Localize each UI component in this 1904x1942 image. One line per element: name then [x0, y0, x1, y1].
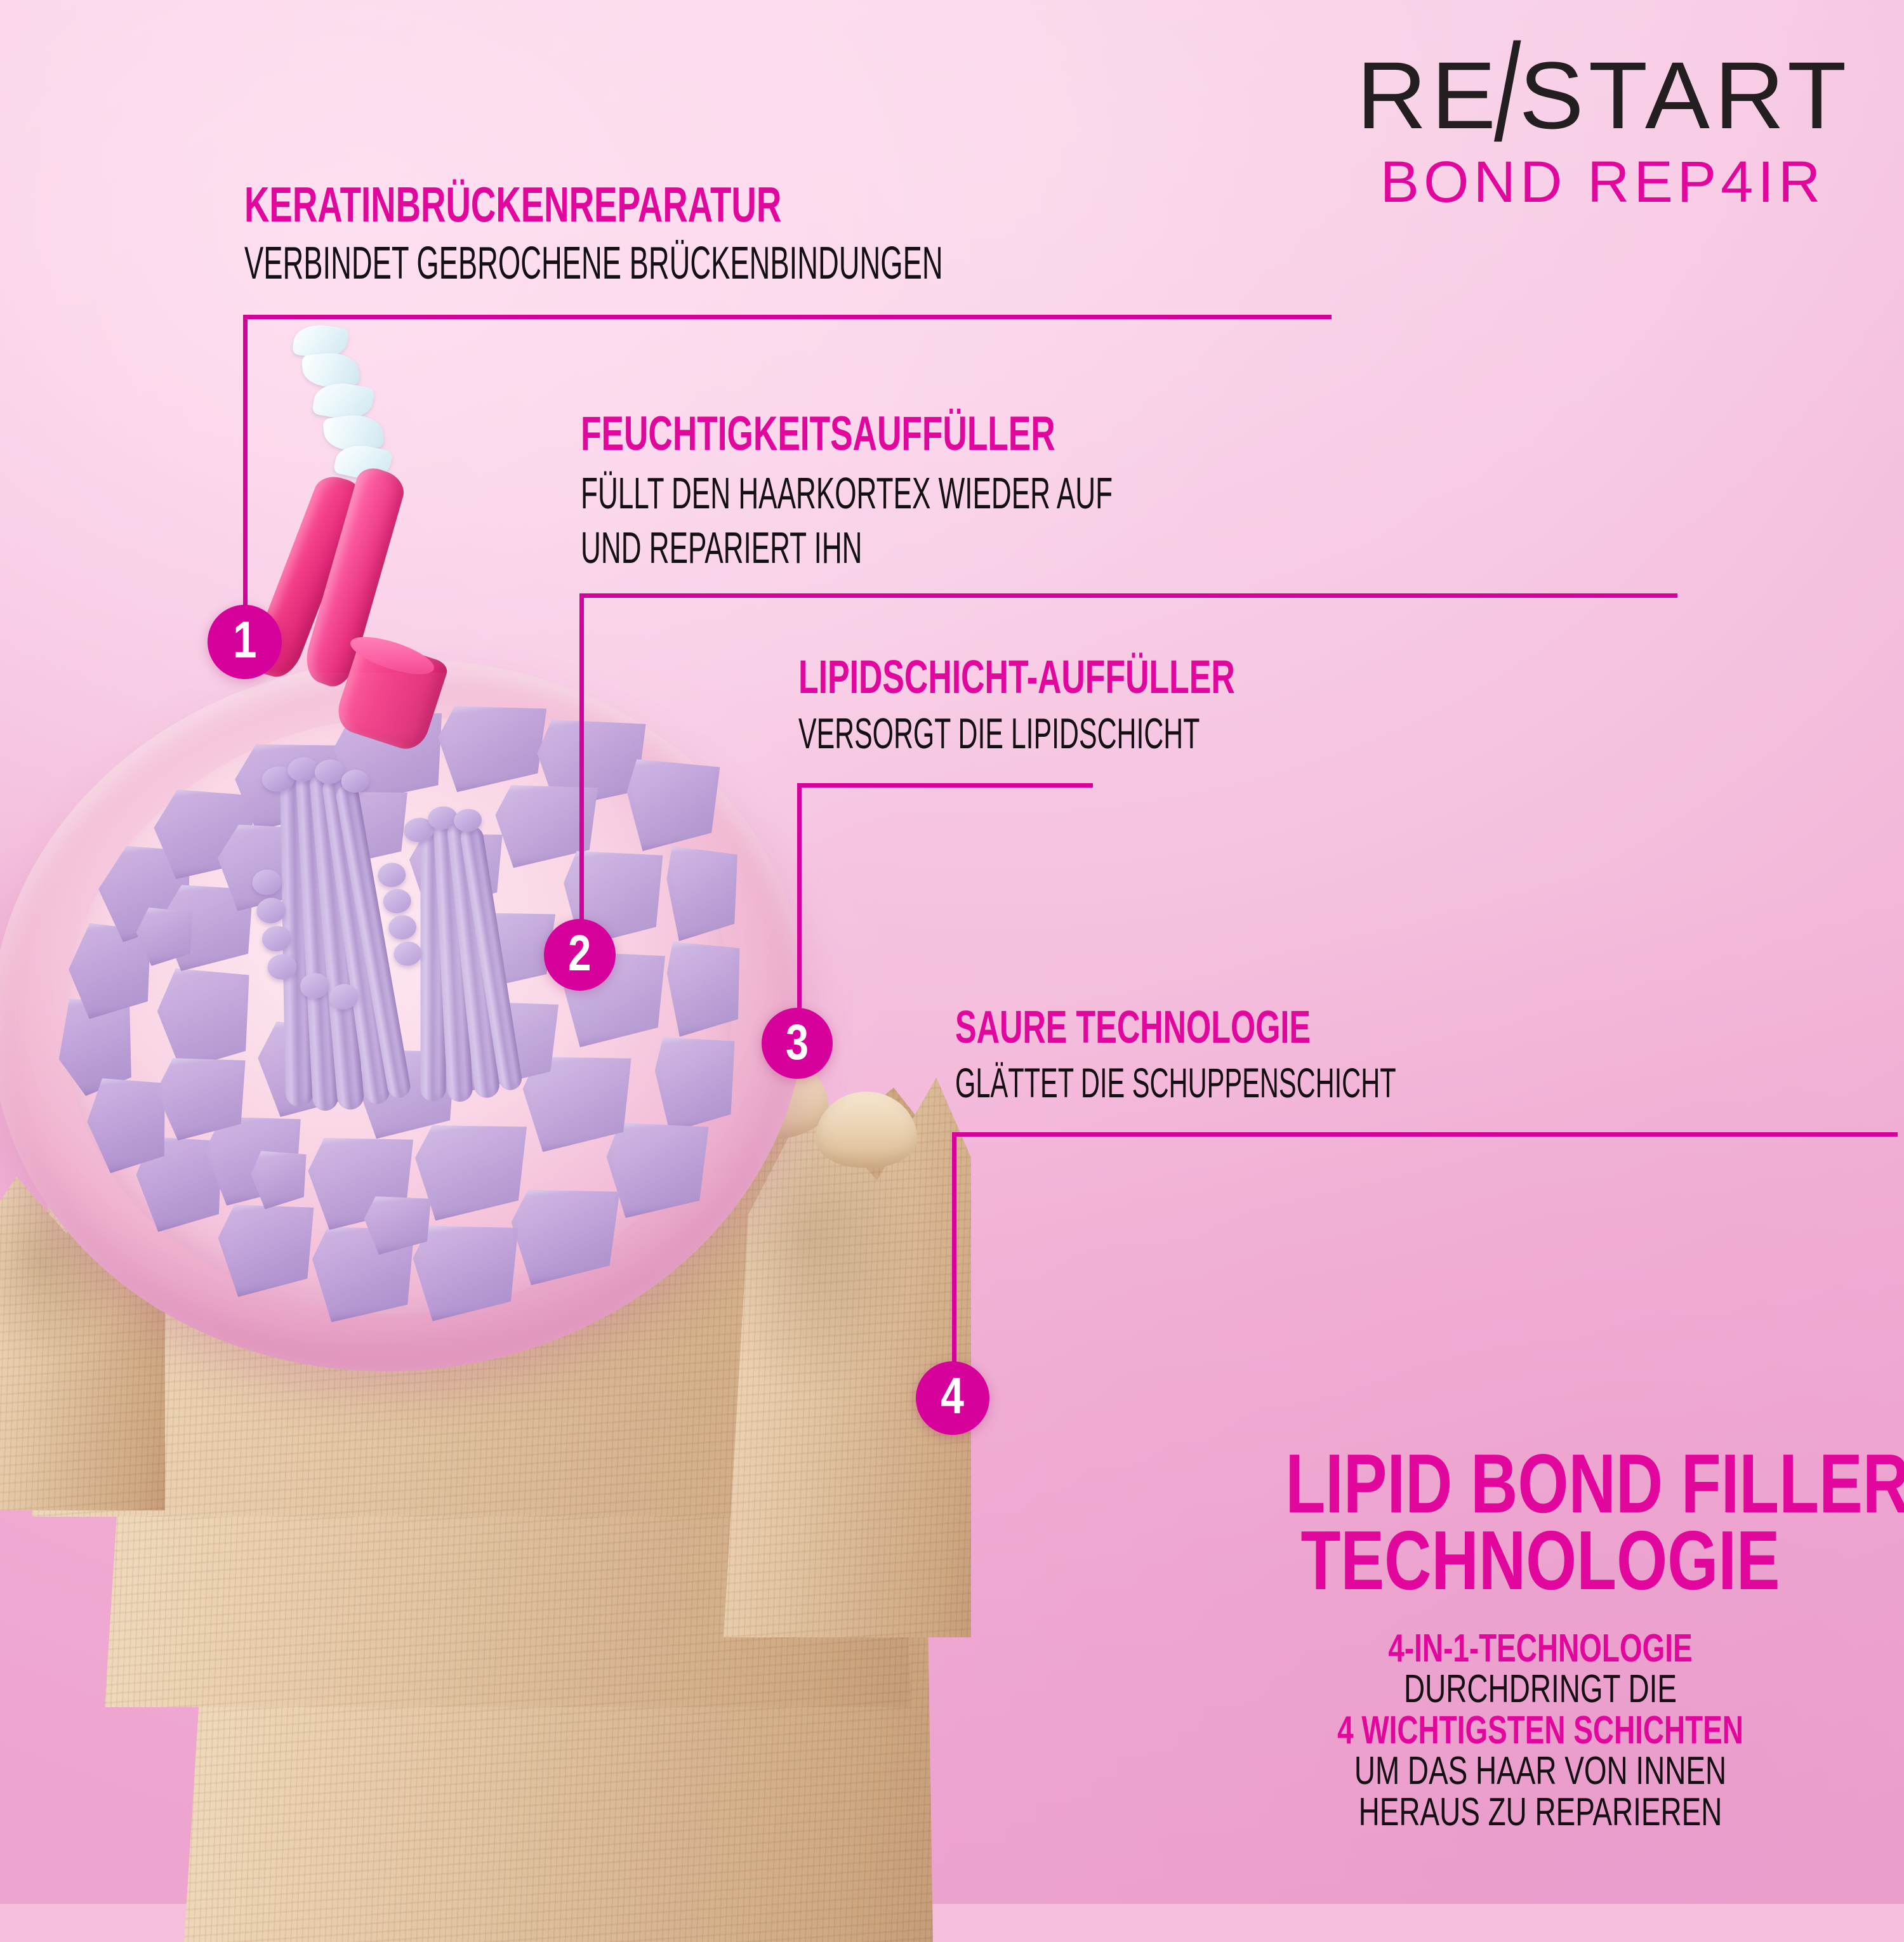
callout-2-title: FEUCHTIGKEITSAUFFÜLLER	[581, 411, 1172, 457]
logo-re: RE	[1356, 42, 1500, 149]
callout-3-title: LIPIDSCHICHT-AUFFÜLLER	[798, 655, 1245, 699]
technology-body: 4-IN-1-TECHNOLOGIE DURCHDRINGT DIE 4 WIC…	[1213, 1628, 1867, 1833]
technology-heading: LIPID BOND FILLER TECHNOLOGIE	[1285, 1445, 1795, 1599]
callout-1-line-1: VERBINDET GEBROCHENE BRÜCKENBINDUNGEN	[244, 241, 943, 287]
technology-body-line-3: 4 WICHTIGSTEN SCHICHTEN	[1299, 1710, 1782, 1751]
technology-body-line-4: UM DAS HAAR VON INNEN	[1299, 1751, 1782, 1792]
technology-block: LIPID BOND FILLER TECHNOLOGIE 4-IN-1-TEC…	[1213, 1445, 1867, 1833]
callout-1-subtitle: VERBINDET GEBROCHENE BRÜCKENBINDUNGEN	[244, 241, 943, 287]
cortex-cell-field	[13, 657, 780, 1368]
callout-4: SAURE TECHNOLOGIE GLÄTTET DIE SCHUPPENSC…	[955, 1006, 1655, 1105]
technology-heading-line-2: TECHNOLOGIE	[1285, 1522, 1795, 1599]
callout-3-line-1: VERSORGT DIE LIPIDSCHICHT	[798, 712, 1200, 756]
callout-2: FEUCHTIGKEITSAUFFÜLLER FÜLLT DEN HAARKOR…	[581, 411, 1425, 571]
callout-1-title: KERATINBRÜCKENREPARATUR	[244, 181, 1021, 228]
logo-bond-repair: BOND REP4IR	[1361, 153, 1844, 211]
callout-2-line-2: UND REPARIERT IHN	[581, 525, 1113, 571]
logo-slash: /	[1494, 23, 1526, 162]
callout-2-line-1: FÜLLT DEN HAARKORTEX WIEDER AUF	[581, 471, 1113, 516]
bullet-3: 3	[762, 1008, 833, 1079]
bullet-4-number: 4	[941, 1371, 965, 1422]
logo-bond-repair-b: IR	[1757, 150, 1825, 215]
hair-shaft-illustration	[0, 673, 1155, 1936]
callout-2-subtitle: FÜLLT DEN HAARKORTEX WIEDER AUF UND REPA…	[581, 471, 1113, 571]
callout-4-title: SAURE TECHNOLOGIE	[955, 1006, 1445, 1049]
callout-4-subtitle: GLÄTTET DIE SCHUPPENSCHICHT	[955, 1062, 1396, 1104]
technology-body-line-1: 4-IN-1-TECHNOLOGIE	[1299, 1628, 1782, 1669]
bullet-1: 1	[208, 605, 282, 679]
brand-logo: RE/START BOND REP4IR	[1361, 48, 1844, 211]
bullet-4: 4	[916, 1361, 989, 1435]
logo-restart: RE/START	[1356, 48, 1848, 143]
logo-bond-repair-four: 4	[1721, 150, 1757, 215]
bullet-1-number: 1	[233, 614, 256, 666]
bullet-2: 2	[544, 919, 616, 991]
bullet-2-number: 2	[568, 928, 591, 979]
callout-3: LIPIDSCHICHT-AUFFÜLLER VERSORGT DIE LIPI…	[798, 655, 1436, 756]
technology-body-line-2: DURCHDRINGT DIE	[1299, 1669, 1782, 1710]
logo-start: START	[1519, 42, 1851, 149]
logo-bond-repair-a: BOND REP	[1380, 150, 1721, 215]
callout-1: KERATINBRÜCKENREPARATUR VERBINDET GEBROC…	[244, 181, 1353, 287]
bullet-3-number: 3	[786, 1017, 809, 1067]
callout-4-line-1: GLÄTTET DIE SCHUPPENSCHICHT	[955, 1062, 1396, 1104]
callout-3-subtitle: VERSORGT DIE LIPIDSCHICHT	[798, 712, 1200, 756]
technology-body-line-5: HERAUS ZU REPARIEREN	[1299, 1792, 1782, 1833]
